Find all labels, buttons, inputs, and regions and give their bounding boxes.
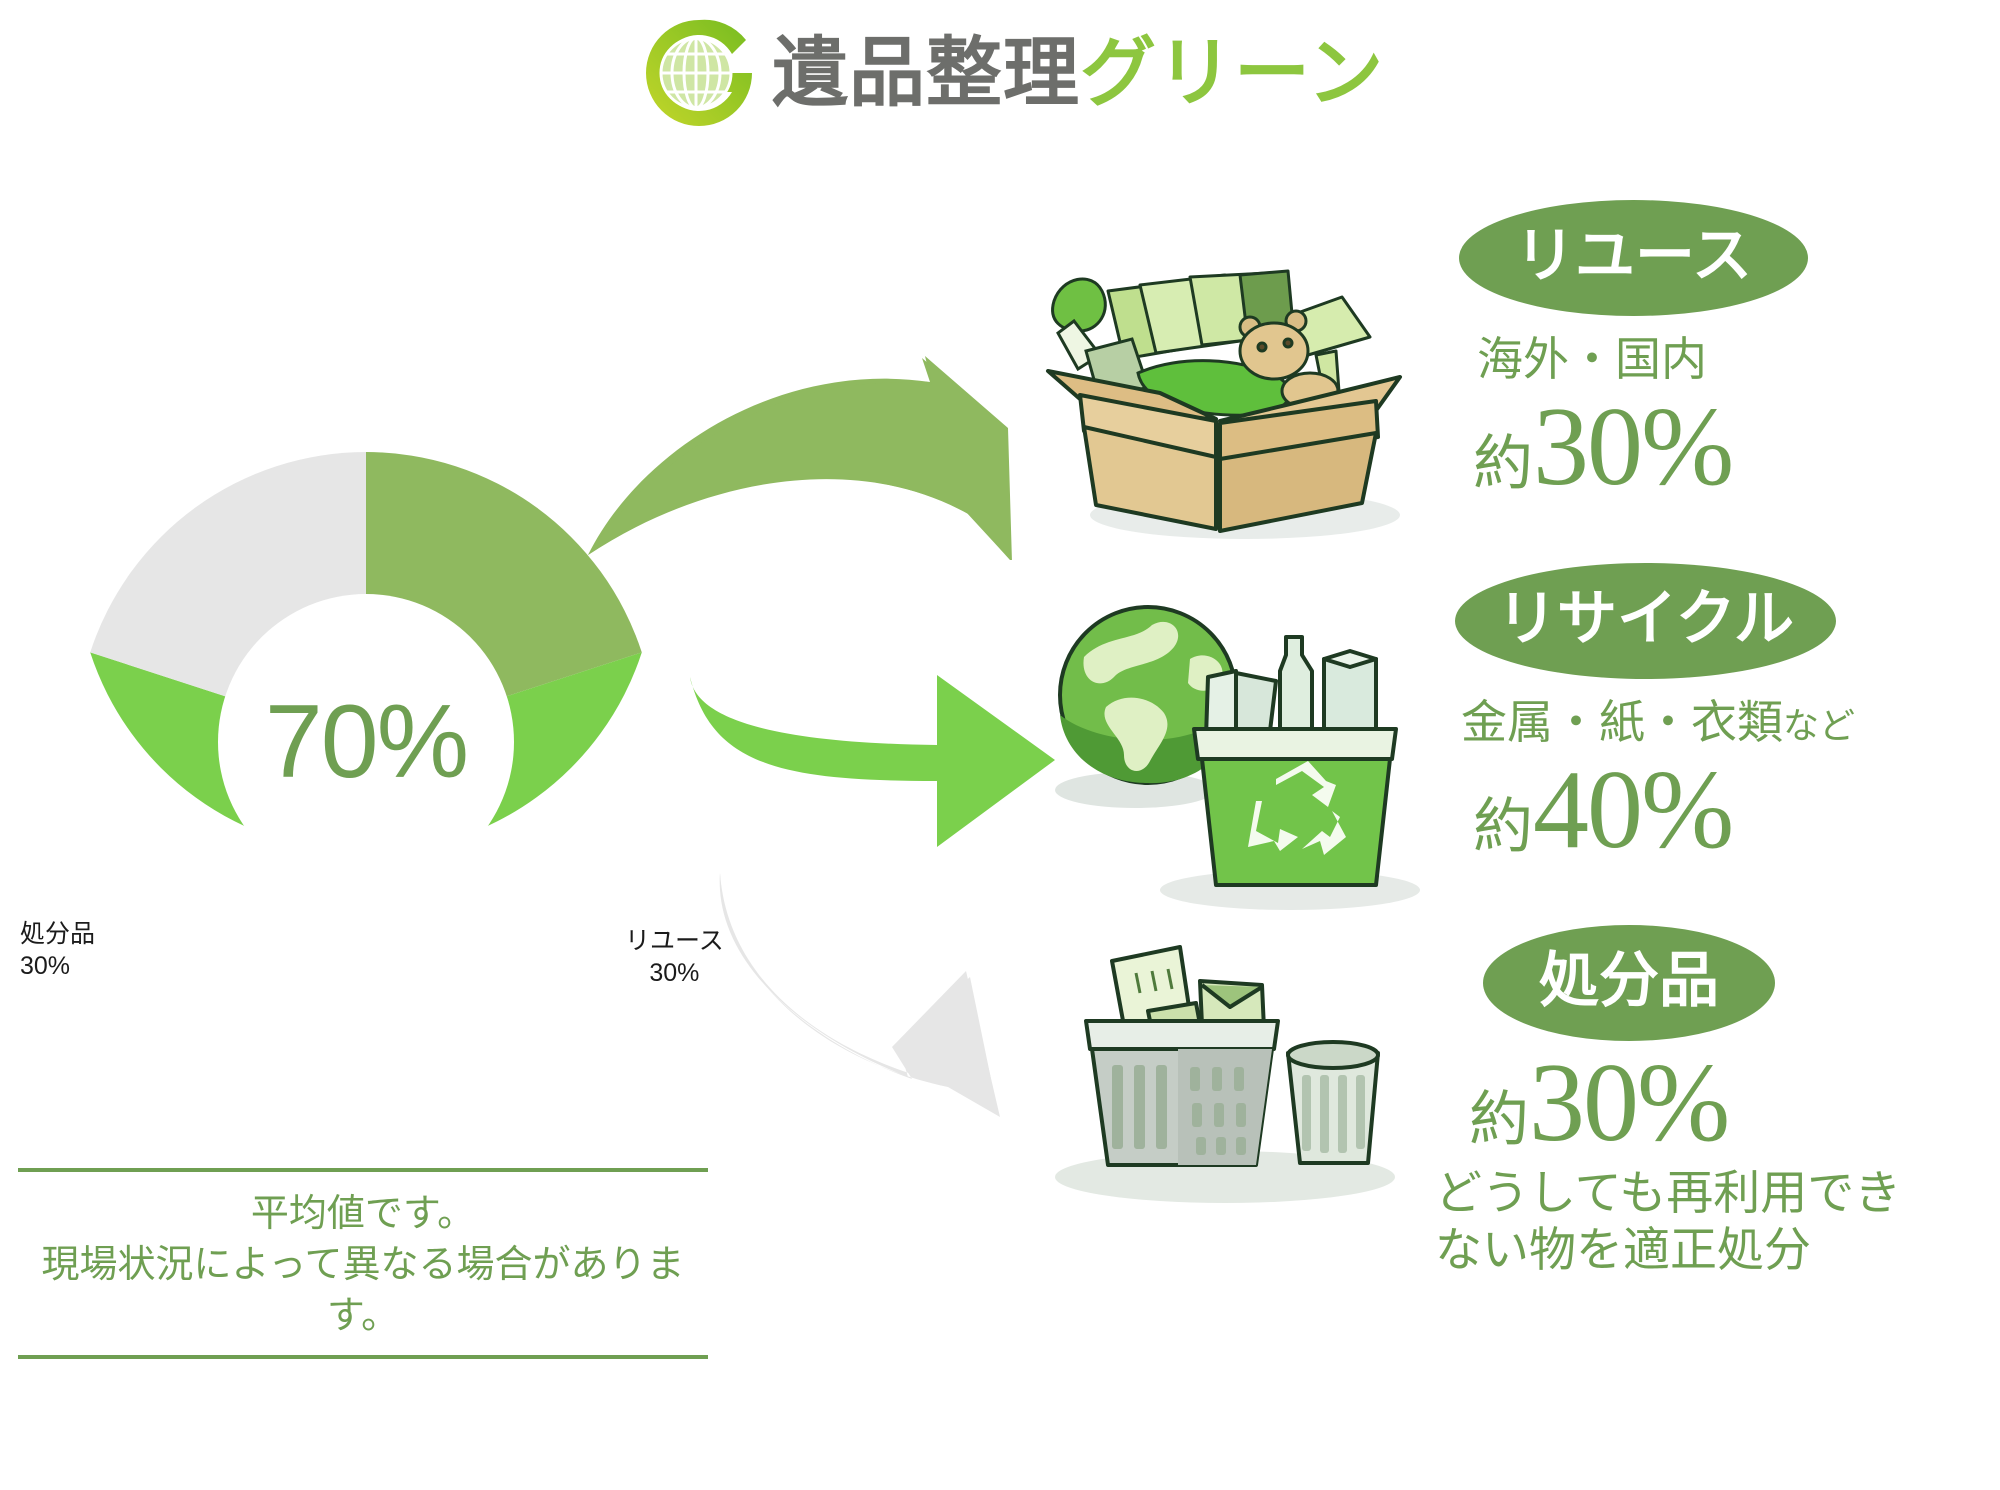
card-reuse-subtitle: 海外・国内 (1477, 334, 2000, 385)
card-disposal-note-line-1: どうしても再利用でき (1435, 1165, 2000, 1222)
card-recycle-percent-prefix: 約 (1473, 792, 1533, 862)
logo-text-dark: 遺品整理 (772, 35, 1080, 111)
arrow-recycle-icon (660, 655, 1060, 865)
footnote-line-1: 平均値です。 (18, 1188, 708, 1239)
arrow-reuse-icon (580, 330, 1060, 560)
badge-reuse: リユース (1459, 200, 1808, 316)
card-disposal-note: どうしても再利用でき ない物を適正処分 (1435, 1165, 2000, 1280)
donut-label-disposal: 処分品 30% (20, 918, 95, 982)
card-disposal-percent-value: 30% (1529, 1041, 1728, 1165)
donut-label-disposal-value: 30% (20, 950, 95, 982)
waste-baskets-illustration-icon (1030, 925, 1430, 1215)
card-disposal-percent: 約30% (1469, 1047, 2000, 1159)
globe-and-recycle-bin-illustration-icon (1040, 585, 1440, 915)
card-disposal-percent-prefix: 約 (1469, 1085, 1529, 1155)
card-reuse-percent-prefix: 約 (1473, 429, 1533, 499)
footnote-line-2: 現場状況によって異なる場合があります。 (18, 1239, 708, 1341)
card-reuse-percent: 約30% (1473, 391, 2000, 503)
card-reuse-percent-value: 30% (1533, 385, 1732, 509)
cardboard-box-with-items-illustration-icon (1040, 205, 1440, 545)
card-reuse: リユース 海外・国内 約30% (1455, 200, 2000, 503)
donut-label-disposal-name: 処分品 (20, 919, 95, 948)
card-disposal-note-line-2: ない物を適正処分 (1435, 1222, 2000, 1279)
globe-g-logo-icon (640, 14, 758, 132)
card-recycle-percent: 約40% (1473, 754, 2000, 866)
card-recycle-subtitle: 金属・紙・衣類など (1461, 697, 2000, 748)
footnote-box: 平均値です。 現場状況によって異なる場合があります。 (18, 1168, 708, 1359)
card-disposal: 処分品 約30% どうしても再利用でき ない物を適正処分 (1455, 925, 2000, 1280)
donut-center-value: 70% (66, 442, 666, 1042)
brand-logo: 遺品整理 グリーン (640, 14, 1384, 132)
logo-text-green: グリーン (1080, 35, 1384, 111)
card-recycle-subtitle-main: 金属・紙・衣類 (1461, 695, 1783, 749)
badge-recycle: リサイクル (1455, 563, 1836, 679)
infographic-page: 遺品整理 グリーン 70% 処分品 30% リユース 30% (0, 0, 2000, 1490)
card-recycle-subtitle-small: など (1783, 706, 1855, 747)
card-recycle-percent-value: 40% (1533, 748, 1732, 872)
card-recycle: リサイクル 金属・紙・衣類など 約40% (1455, 563, 2000, 866)
badge-disposal: 処分品 (1483, 925, 1775, 1041)
